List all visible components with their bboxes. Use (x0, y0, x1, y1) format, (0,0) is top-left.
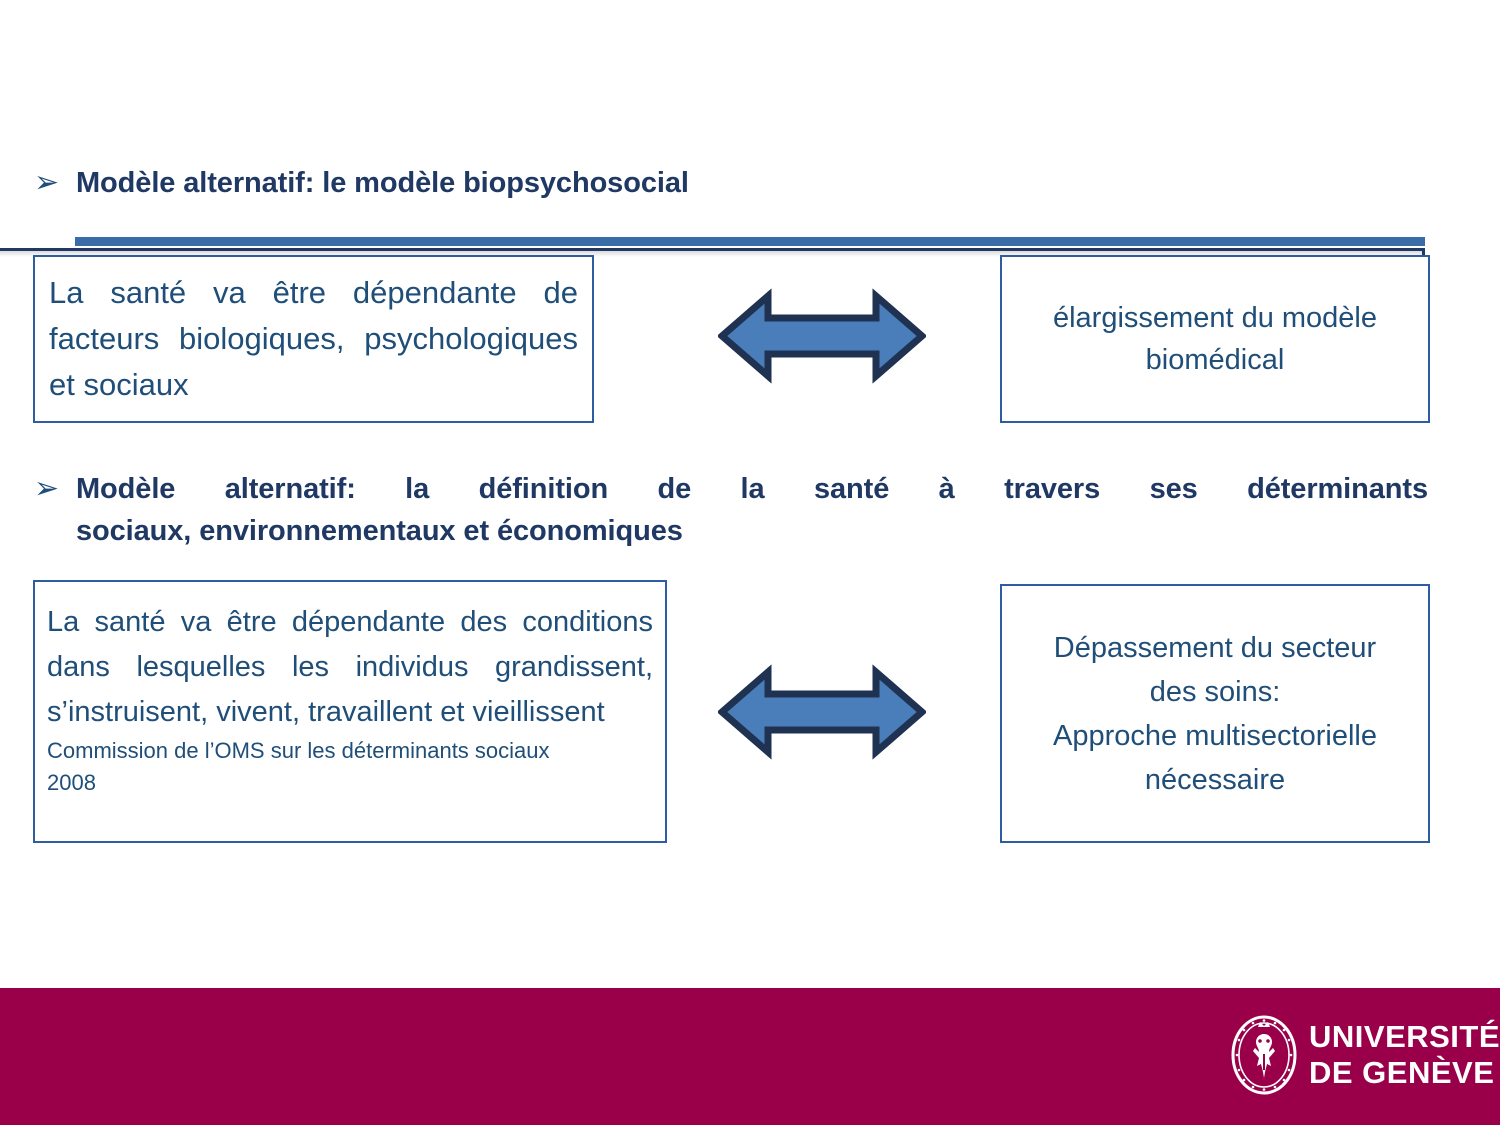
multisector-line-3: Approche multisectorielle (1053, 720, 1377, 752)
textbox-biological-factors: La santé va être dépendante de facteurs … (33, 255, 594, 423)
textbox-living-conditions-source-1: Commission de l’OMS sur les déterminants… (47, 735, 653, 767)
textbox-biological-factors-inner: La santé va être dépendante de facteurs … (35, 270, 592, 408)
unige-wordmark: UNIVERSITÉ DE GENÈVE (1309, 1019, 1500, 1091)
textbox-living-conditions-source-2: 2008 (47, 767, 653, 799)
unige-logo: UNIVERSITÉ DE GENÈVE (1229, 1012, 1454, 1098)
unige-wordmark-line-2: DE GENÈVE (1309, 1055, 1500, 1091)
unige-seal-icon (1229, 1014, 1299, 1096)
bullet-heading-text: Modèle alternatif: le modèle biopsychoso… (76, 162, 689, 204)
multisector-line-2: des soins: (1150, 676, 1281, 708)
double-arrow-top-icon (718, 288, 926, 384)
textbox-multisectoral-approach-text: Dépassement du secteur des soins: Approc… (1053, 626, 1377, 802)
textbox-multisectoral-approach-inner: Dépassement du secteur des soins: Approc… (1039, 626, 1391, 802)
textbox-biomedical-model-text: élargissement du modèle biomédical (1016, 297, 1414, 381)
slide-canvas: ➢ Modèle alternatif: le modèle biopsycho… (0, 0, 1500, 1125)
bullet-heading-line-1: Modèle alternatif: la définition de la s… (76, 468, 1428, 510)
bullet-heading-biopsychosocial: ➢ Modèle alternatif: le modèle biopsycho… (34, 162, 1434, 204)
multisector-line-1: Dépassement du secteur (1054, 632, 1376, 664)
textbox-multisectoral-approach: Dépassement du secteur des soins: Approc… (1000, 584, 1430, 843)
arrowhead-bullet-icon: ➢ (34, 162, 76, 204)
unige-wordmark-line-1: UNIVERSITÉ (1309, 1019, 1500, 1055)
bullet-heading-text: Modèle alternatif: la définition de la s… (76, 468, 1428, 552)
arrowhead-bullet-icon: ➢ (34, 468, 76, 510)
bullet-heading-social-determinants: ➢ Modèle alternatif: la définition de la… (34, 468, 1434, 552)
bullet-heading-line-2: sociaux, environnementaux et économiques (76, 510, 1428, 552)
multisector-line-4: nécessaire (1145, 764, 1285, 796)
textbox-living-conditions: La santé va être dépendante des conditio… (33, 580, 667, 843)
textbox-living-conditions-text: La santé va être dépendante des conditio… (47, 600, 653, 735)
textbox-biomedical-model-inner: élargissement du modèle biomédical (1002, 297, 1428, 381)
textbox-biomedical-model: élargissement du modèle biomédical (1000, 255, 1430, 423)
textbox-living-conditions-inner: La santé va être dépendante des conditio… (35, 582, 665, 799)
divider-thick-bar (75, 237, 1425, 246)
double-arrow-bottom-icon (718, 664, 926, 760)
textbox-biological-factors-text: La santé va être dépendante de facteurs … (49, 270, 578, 408)
